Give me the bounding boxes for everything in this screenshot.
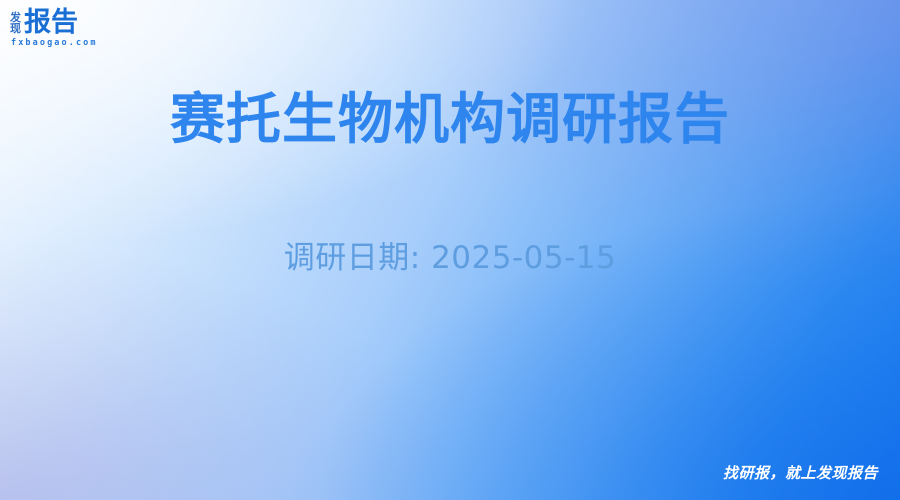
logo-wordmark-row: 发 现 报告 xyxy=(10,9,78,36)
logo-wordmark-text: 报告 xyxy=(24,9,78,36)
logo-stack-bottom-character: 现 xyxy=(10,23,21,34)
logo-domain-text: fxbaogao.com xyxy=(11,38,98,48)
footer-slogan: 找研报，就上发现报告 xyxy=(723,462,878,483)
logo-stacked-characters: 发 现 xyxy=(10,11,21,34)
low-poly-background xyxy=(0,0,900,500)
site-logo[interactable]: 发 现 报告 fxbaogao.com xyxy=(10,9,98,48)
report-cover-slide: 发 现 报告 fxbaogao.com 赛托生物机构调研报告 调研日期: 202… xyxy=(0,0,900,500)
